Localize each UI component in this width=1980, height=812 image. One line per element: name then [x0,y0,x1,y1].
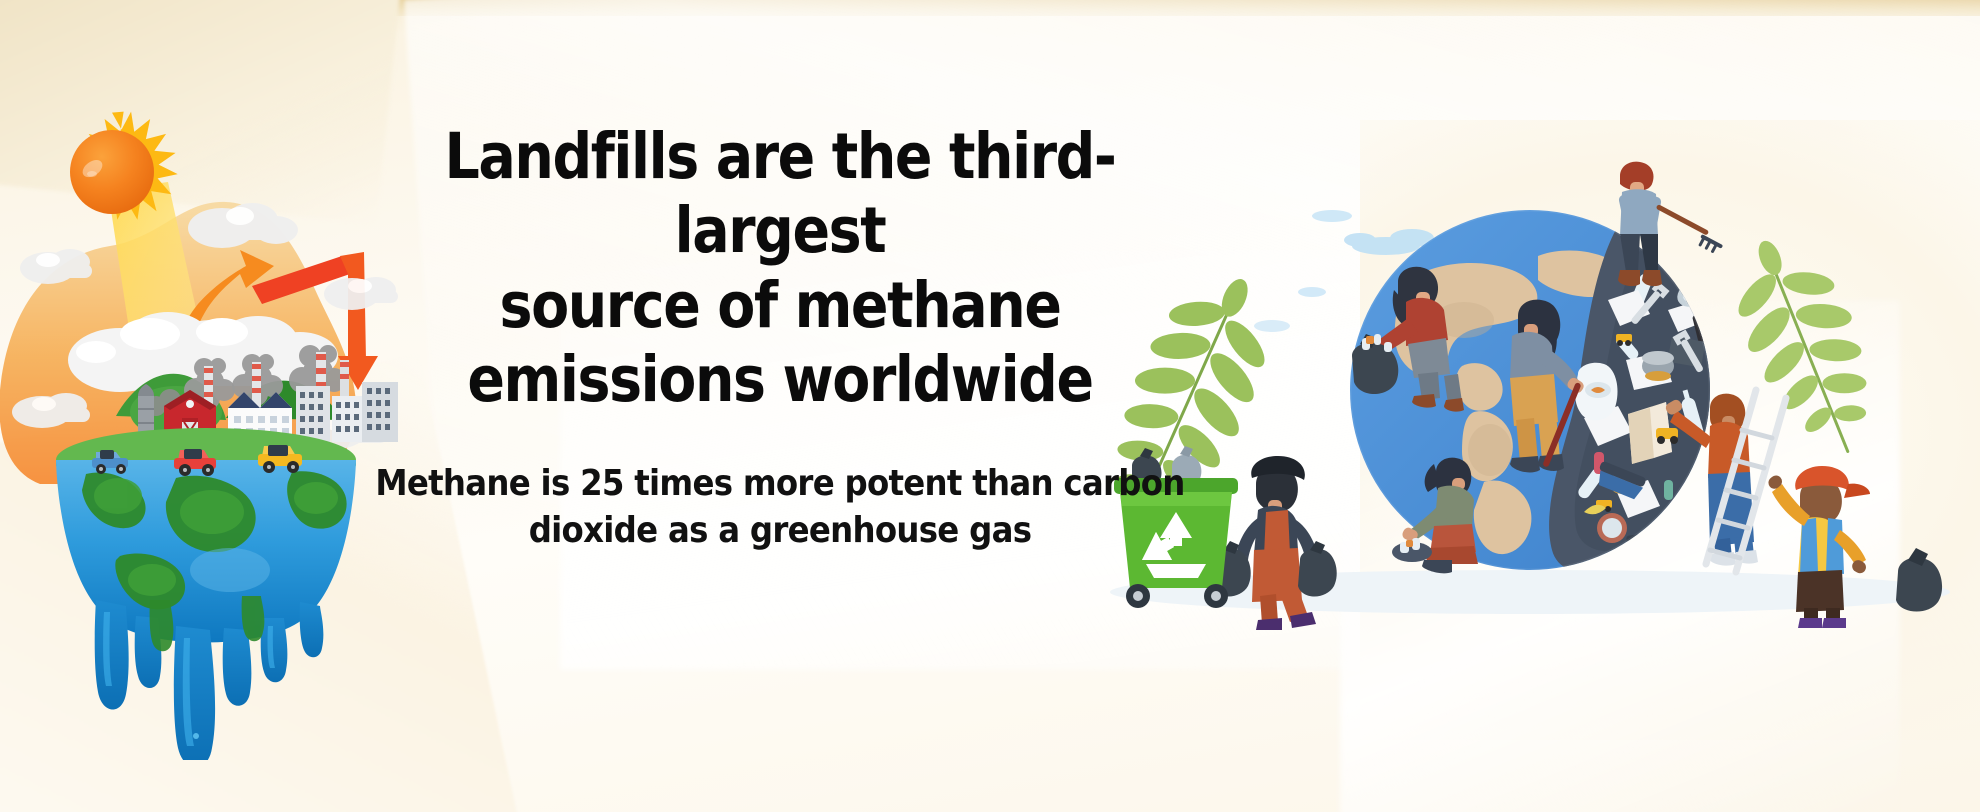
trash-plastic-bag [1575,363,1617,421]
banner-root: Landfills are the third-largest source o… [0,0,1980,812]
background-top-band [0,0,1980,16]
page-title: Landfills are the third-largest source o… [384,120,1176,417]
earth-globe-melting [56,428,356,760]
text-block: Landfills are the third-largest source o… [330,120,1230,555]
trash-bag-right [1896,548,1942,612]
subtitle: Methane is 25 times more potent than car… [375,461,1185,555]
person-raking-top [1618,162,1723,286]
